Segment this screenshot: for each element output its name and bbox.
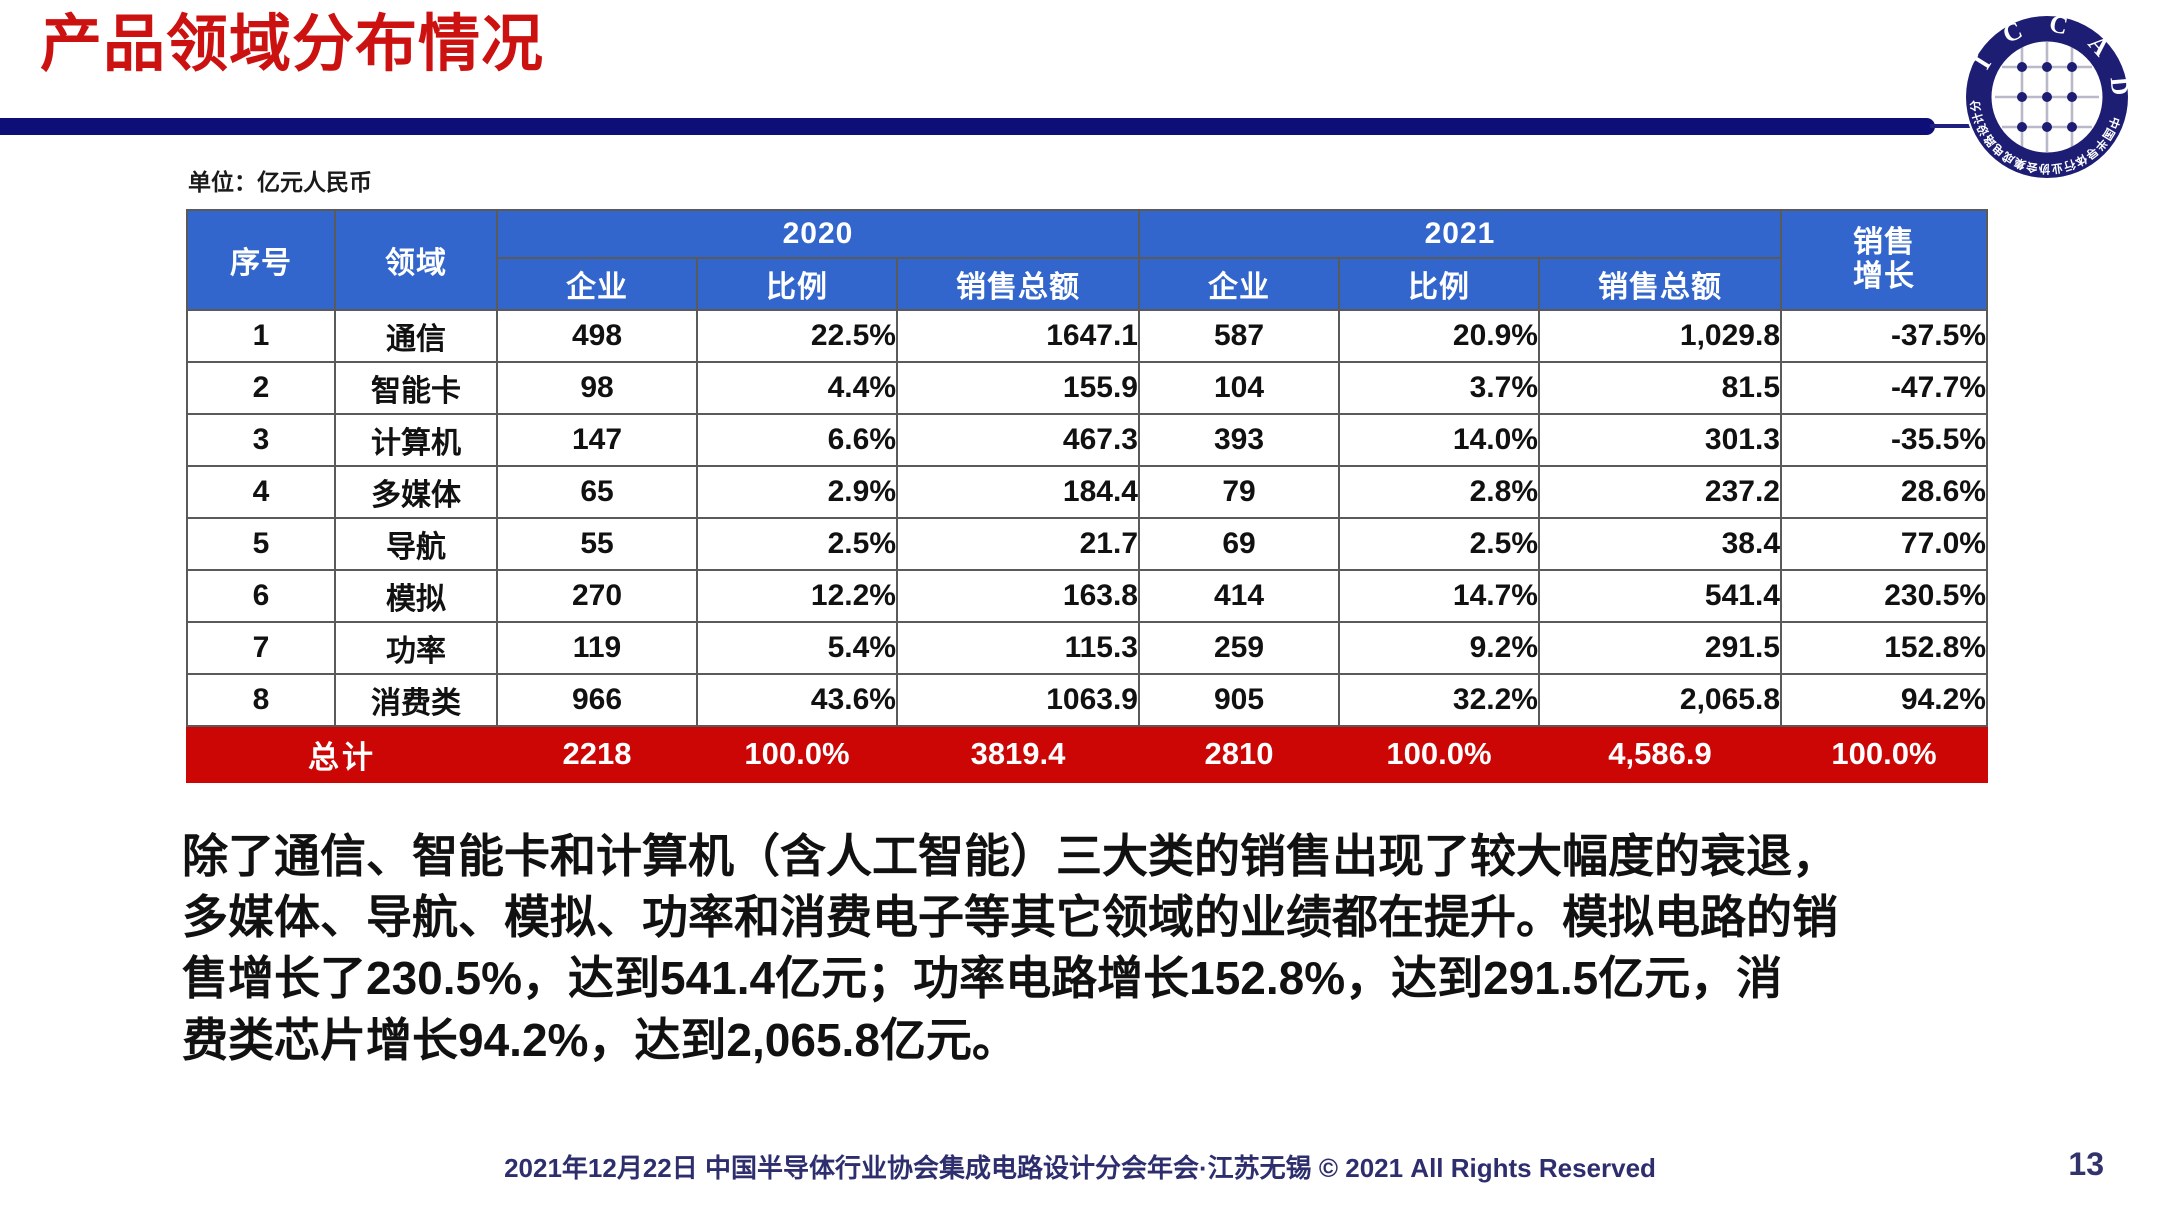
cell-2020-sales: 115.3 [897, 622, 1139, 674]
th-index: 序号 [187, 210, 335, 310]
distribution-table: 序号 领域 2020 2021 销售 增长 企业 比例 销售总额 企业 比例 销… [186, 209, 1988, 783]
th-field: 领域 [335, 210, 497, 310]
cell-2020-enterprises: 966 [497, 674, 697, 726]
table-head: 序号 领域 2020 2021 销售 增长 企业 比例 销售总额 企业 比例 销… [187, 210, 1987, 310]
cell-2021-ratio: 2.8% [1339, 466, 1539, 518]
table-header-row-groups: 序号 领域 2020 2021 销售 增长 [187, 210, 1987, 258]
footer-text: 2021年12月22日 中国半导体行业协会集成电路设计分会年会·江苏无锡 © 2… [0, 1148, 2160, 1185]
cell-2021-ratio: 3.7% [1339, 362, 1539, 414]
cell-2020-sales: 21.7 [897, 518, 1139, 570]
slide-canvas: 产品领域分布情况 [0, 0, 2160, 1216]
cell-2021-ratio: 14.7% [1339, 570, 1539, 622]
th-year-2020: 2020 [497, 210, 1139, 258]
cell-field: 计算机 [335, 414, 497, 466]
cell-2020-enterprises: 147 [497, 414, 697, 466]
iccad-logo: I C C A D 中国半导体行业协会集成电路设计分会 [1962, 12, 2132, 182]
cell-2021-sales: 2,065.8 [1539, 674, 1781, 726]
cell-2020-enterprises: 270 [497, 570, 697, 622]
cell-field: 智能卡 [335, 362, 497, 414]
cell-2020-ratio: 43.6% [697, 674, 897, 726]
body-line-3: 售增长了230.5%，达到541.4亿元；功率电路增长152.8%，达到291.… [182, 948, 1992, 1009]
cell-growth: 28.6% [1781, 466, 1987, 518]
cell-2020-ratio: 4.4% [697, 362, 897, 414]
body-line-2: 多媒体、导航、模拟、功率和消费电子等其它领域的业绩都在提升。模拟电路的销 [182, 887, 1992, 948]
cell-2020-ratio: 2.9% [697, 466, 897, 518]
cell-total-2021-sales: 4,586.9 [1539, 726, 1781, 782]
cell-total-2020-sales: 3819.4 [897, 726, 1139, 782]
cell-field: 模拟 [335, 570, 497, 622]
cell-2020-enterprises: 55 [497, 518, 697, 570]
page-title: 产品领域分布情况 [40, 8, 544, 82]
cell-2020-sales: 163.8 [897, 570, 1139, 622]
cell-2021-ratio: 2.5% [1339, 518, 1539, 570]
th-2020-enterprises: 企业 [497, 258, 697, 310]
cell-2021-enterprises: 393 [1139, 414, 1339, 466]
body-paragraph: 除了通信、智能卡和计算机（含人工智能）三大类的销售出现了较大幅度的衰退， 多媒体… [182, 826, 1992, 1071]
cell-index: 6 [187, 570, 335, 622]
cell-2020-sales: 1647.1 [897, 310, 1139, 362]
th-sales-growth: 销售 增长 [1781, 210, 1987, 310]
cell-index: 3 [187, 414, 335, 466]
table-row: 6 模拟 270 12.2% 163.8 414 14.7% 541.4 230… [187, 570, 1987, 622]
cell-growth: 94.2% [1781, 674, 1987, 726]
table-row: 1 通信 498 22.5% 1647.1 587 20.9% 1,029.8 … [187, 310, 1987, 362]
table-row: 5 导航 55 2.5% 21.7 69 2.5% 38.4 77.0% [187, 518, 1987, 570]
table-body: 1 通信 498 22.5% 1647.1 587 20.9% 1,029.8 … [187, 310, 1987, 782]
cell-growth: -35.5% [1781, 414, 1987, 466]
cell-2021-enterprises: 259 [1139, 622, 1339, 674]
cell-2021-ratio: 20.9% [1339, 310, 1539, 362]
cell-2021-enterprises: 69 [1139, 518, 1339, 570]
cell-index: 5 [187, 518, 335, 570]
cell-2021-sales: 1,029.8 [1539, 310, 1781, 362]
cell-2020-sales: 1063.9 [897, 674, 1139, 726]
cell-2020-sales: 155.9 [897, 362, 1139, 414]
cell-2020-enterprises: 65 [497, 466, 697, 518]
cell-2021-sales: 81.5 [1539, 362, 1781, 414]
cell-total-2020-ratio: 100.0% [697, 726, 897, 782]
cell-growth: 77.0% [1781, 518, 1987, 570]
cell-index: 7 [187, 622, 335, 674]
cell-growth: -47.7% [1781, 362, 1987, 414]
body-line-4: 费类芯片增长94.2%，达到2,065.8亿元。 [182, 1010, 1992, 1071]
cell-total-2020-enterprises: 2218 [497, 726, 697, 782]
cell-growth: 230.5% [1781, 570, 1987, 622]
cell-index: 2 [187, 362, 335, 414]
cell-total-2021-ratio: 100.0% [1339, 726, 1539, 782]
cell-growth: 152.8% [1781, 622, 1987, 674]
cell-field: 多媒体 [335, 466, 497, 518]
th-2021-enterprises: 企业 [1139, 258, 1339, 310]
th-sales-growth-line1: 销售 [1782, 226, 1986, 260]
cell-total-2021-enterprises: 2810 [1139, 726, 1339, 782]
body-line-1: 除了通信、智能卡和计算机（含人工智能）三大类的销售出现了较大幅度的衰退， [182, 826, 1992, 887]
th-sales-growth-line2: 增长 [1782, 260, 1986, 294]
cell-2020-ratio: 22.5% [697, 310, 897, 362]
cell-2021-sales: 237.2 [1539, 466, 1781, 518]
cell-2020-ratio: 12.2% [697, 570, 897, 622]
cell-2021-ratio: 9.2% [1339, 622, 1539, 674]
table-total-row: 总计 2218 100.0% 3819.4 2810 100.0% 4,586.… [187, 726, 1987, 782]
cell-2021-sales: 541.4 [1539, 570, 1781, 622]
cell-2021-sales: 38.4 [1539, 518, 1781, 570]
cell-2021-enterprises: 414 [1139, 570, 1339, 622]
table-row: 4 多媒体 65 2.9% 184.4 79 2.8% 237.2 28.6% [187, 466, 1987, 518]
cell-2021-ratio: 32.2% [1339, 674, 1539, 726]
cell-2021-enterprises: 79 [1139, 466, 1339, 518]
table-row: 7 功率 119 5.4% 115.3 259 9.2% 291.5 152.8… [187, 622, 1987, 674]
cell-2021-sales: 291.5 [1539, 622, 1781, 674]
cell-2021-sales: 301.3 [1539, 414, 1781, 466]
cell-index: 8 [187, 674, 335, 726]
unit-note: 单位：亿元人民币 [188, 163, 372, 197]
cell-field: 消费类 [335, 674, 497, 726]
th-2020-ratio: 比例 [697, 258, 897, 310]
cell-2020-enterprises: 119 [497, 622, 697, 674]
th-2021-ratio: 比例 [1339, 258, 1539, 310]
cell-field: 通信 [335, 310, 497, 362]
cell-2021-ratio: 14.0% [1339, 414, 1539, 466]
cell-2020-ratio: 6.6% [697, 414, 897, 466]
th-2021-sales-total: 销售总额 [1539, 258, 1781, 310]
cell-index: 1 [187, 310, 335, 362]
title-underline-bar [0, 118, 1935, 135]
cell-2020-enterprises: 498 [497, 310, 697, 362]
cell-field: 导航 [335, 518, 497, 570]
cell-2021-enterprises: 905 [1139, 674, 1339, 726]
cell-field: 功率 [335, 622, 497, 674]
cell-2020-ratio: 5.4% [697, 622, 897, 674]
cell-2021-enterprises: 587 [1139, 310, 1339, 362]
cell-2020-sales: 184.4 [897, 466, 1139, 518]
cell-growth: -37.5% [1781, 310, 1987, 362]
table-row: 8 消费类 966 43.6% 1063.9 905 32.2% 2,065.8… [187, 674, 1987, 726]
table-row: 3 计算机 147 6.6% 467.3 393 14.0% 301.3 -35… [187, 414, 1987, 466]
cell-index: 4 [187, 466, 335, 518]
page-number: 13 [2068, 1146, 2104, 1183]
cell-2020-ratio: 2.5% [697, 518, 897, 570]
table-row: 2 智能卡 98 4.4% 155.9 104 3.7% 81.5 -47.7% [187, 362, 1987, 414]
cell-2020-sales: 467.3 [897, 414, 1139, 466]
cell-2020-enterprises: 98 [497, 362, 697, 414]
th-year-2021: 2021 [1139, 210, 1781, 258]
cell-total-label: 总计 [187, 726, 497, 782]
cell-2021-enterprises: 104 [1139, 362, 1339, 414]
cell-total-growth: 100.0% [1781, 726, 1987, 782]
th-2020-sales-total: 销售总额 [897, 258, 1139, 310]
product-field-table: 序号 领域 2020 2021 销售 增长 企业 比例 销售总额 企业 比例 销… [186, 209, 1986, 783]
